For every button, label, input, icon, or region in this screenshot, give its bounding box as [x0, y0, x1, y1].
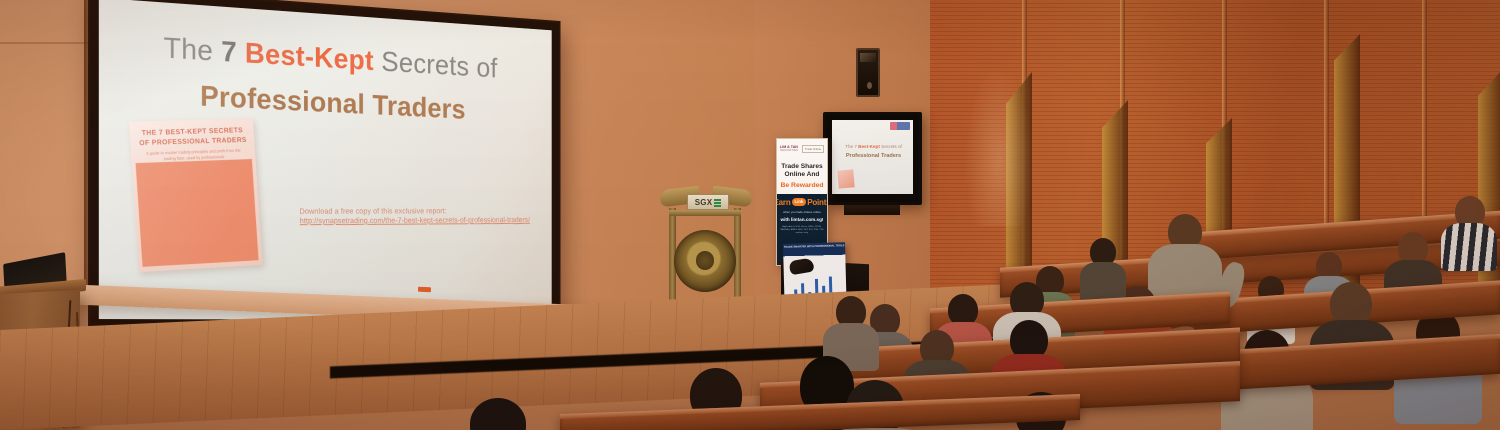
audience-seating	[0, 0, 1500, 430]
auditorium-photo: The 7 Best-Kept Secrets of Professional …	[0, 0, 1500, 430]
